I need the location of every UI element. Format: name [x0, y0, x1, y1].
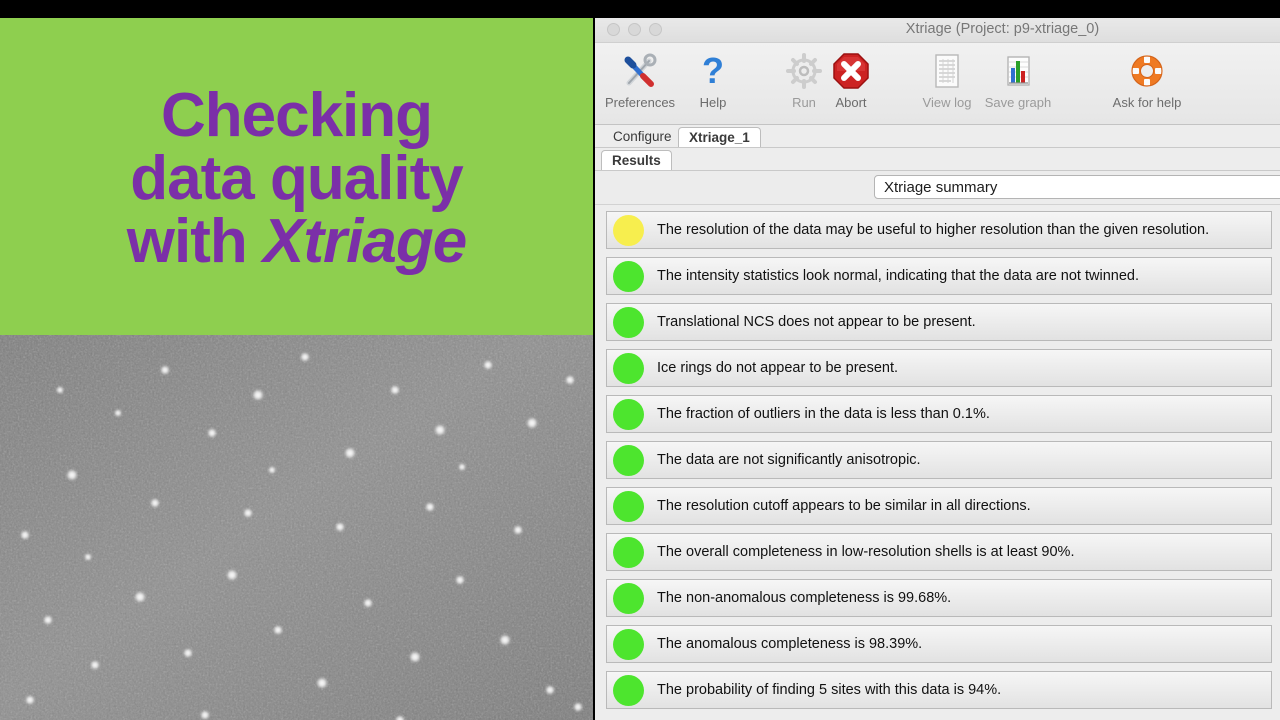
result-text: The resolution cutoff appears to be simi… [657, 498, 1031, 514]
tools-icon [620, 49, 660, 93]
summary-dropdown[interactable]: Xtriage summary [874, 175, 1280, 199]
result-row[interactable]: The resolution cutoff appears to be simi… [606, 487, 1272, 525]
result-text: The anomalous completeness is 98.39%. [657, 636, 922, 652]
status-badge-green [613, 353, 644, 384]
result-row[interactable]: The fraction of outliers in the data is … [606, 395, 1272, 433]
result-row[interactable]: The anomalous completeness is 98.39%. [606, 625, 1272, 663]
diffraction-image [0, 335, 593, 720]
window-titlebar: Xtriage (Project: p9-xtriage_0) [595, 18, 1280, 43]
status-badge-green [613, 675, 644, 706]
results-list: The resolution of the data may be useful… [595, 205, 1280, 720]
status-badge-green [613, 399, 644, 430]
slide-title-line-3-italic: Xtriage [263, 207, 466, 276]
result-text: The resolution of the data may be useful… [657, 222, 1209, 238]
tab-xtriage-1[interactable]: Xtriage_1 [678, 127, 761, 147]
toolbar-label-ask-for-help: Ask for help [1113, 95, 1182, 110]
toolbar: Preferences ? Help [595, 43, 1280, 125]
slide-title-line-1: Checking [161, 84, 432, 147]
life-ring-icon [1127, 49, 1167, 93]
result-text: The overall completeness in low-resoluti… [657, 544, 1074, 560]
tab-configure[interactable]: Configure [603, 127, 682, 147]
toolbar-label-abort: Abort [835, 95, 866, 110]
status-badge-green [613, 261, 644, 292]
status-badge-green [613, 537, 644, 568]
toolbar-label-save-graph: Save graph [985, 95, 1052, 110]
xtriage-window: Xtriage (Project: p9-xtriage_0) [595, 18, 1280, 720]
title-slide: Checking data quality with Xtriage [0, 18, 593, 720]
result-text: The non-anomalous completeness is 99.68%… [657, 590, 951, 606]
svg-text:?: ? [702, 51, 724, 91]
screen: Checking data quality with Xtriage [0, 0, 1280, 720]
result-row[interactable]: Translational NCS does not appear to be … [606, 303, 1272, 341]
tab-results[interactable]: Results [601, 150, 672, 170]
status-badge-green [613, 445, 644, 476]
status-badge-yellow [613, 215, 644, 246]
status-badge-green [613, 629, 644, 660]
document-icon [927, 49, 967, 93]
result-text: The probability of finding 5 sites with … [657, 682, 1001, 698]
toolbar-label-view-log: View log [923, 95, 972, 110]
toolbar-label-help: Help [700, 95, 727, 110]
slide-title-line-3-prefix: with [127, 207, 263, 276]
result-text: The data are not significantly anisotrop… [657, 452, 921, 468]
result-row[interactable]: The non-anomalous completeness is 99.68%… [606, 579, 1272, 617]
result-text: Ice rings do not appear to be present. [657, 360, 898, 376]
result-text: The fraction of outliers in the data is … [657, 406, 990, 422]
window-title: Xtriage (Project: p9-xtriage_0) [595, 21, 1280, 37]
toolbar-button-ask-for-help[interactable]: Ask for help [1108, 49, 1186, 110]
result-text: Translational NCS does not appear to be … [657, 314, 976, 330]
toolbar-button-save-graph[interactable]: Save graph [979, 49, 1057, 110]
status-badge-green [613, 307, 644, 338]
result-row[interactable]: The intensity statistics look normal, in… [606, 257, 1272, 295]
secondary-tab-bar: Results [595, 148, 1280, 171]
result-text: The intensity statistics look normal, in… [657, 268, 1139, 284]
status-badge-green [613, 583, 644, 614]
stop-octagon-icon [831, 49, 871, 93]
toolbar-label-preferences: Preferences [605, 95, 675, 110]
toolbar-button-help[interactable]: ? Help [674, 49, 752, 110]
slide-title-line-3: with Xtriage [127, 210, 466, 273]
slide-title-block: Checking data quality with Xtriage [0, 18, 593, 335]
summary-dropdown-value: Xtriage summary [884, 179, 997, 196]
result-row[interactable]: The probability of finding 5 sites with … [606, 671, 1272, 709]
toolbar-button-abort[interactable]: Abort [812, 49, 890, 110]
summary-selector-bar: Xtriage summary [595, 171, 1280, 205]
result-row[interactable]: The resolution of the data may be useful… [606, 211, 1272, 249]
slide-title-line-2: data quality [130, 147, 463, 210]
status-badge-green [613, 491, 644, 522]
bar-chart-icon [998, 49, 1038, 93]
result-row[interactable]: The overall completeness in low-resoluti… [606, 533, 1272, 571]
result-row[interactable]: Ice rings do not appear to be present. [606, 349, 1272, 387]
primary-tab-bar: Configure Xtriage_1 [595, 125, 1280, 148]
toolbar-button-view-log[interactable]: View log [908, 49, 986, 110]
toolbar-button-preferences[interactable]: Preferences [601, 49, 679, 110]
question-mark-icon: ? [693, 49, 733, 93]
diffraction-svg [0, 335, 593, 720]
result-row[interactable]: The data are not significantly anisotrop… [606, 441, 1272, 479]
